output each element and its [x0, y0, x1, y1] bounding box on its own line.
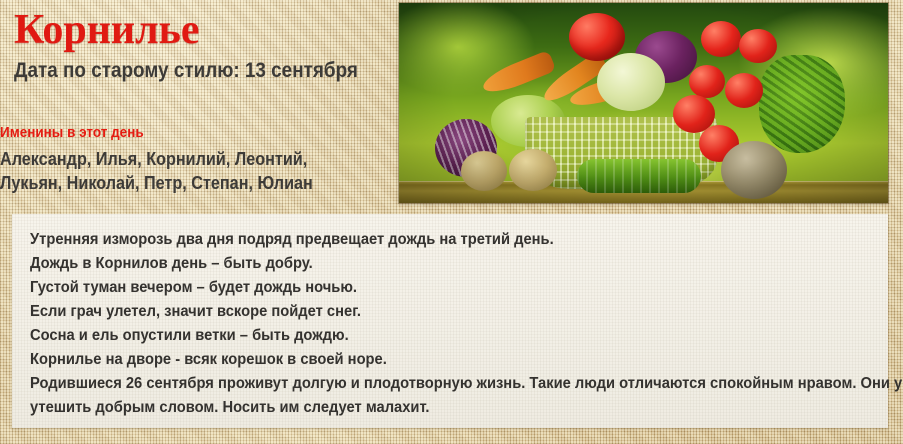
- list-item: утешить добрым словом. Носить им следует…: [30, 396, 805, 420]
- potato-icon: [509, 149, 557, 191]
- old-style-date: Дата по старому стилю: 13 сентября: [14, 58, 356, 84]
- list-item: Утренняя изморозь два дня подряд предвещ…: [30, 228, 805, 252]
- omens-panel: Утренняя изморозь два дня подряд предвещ…: [12, 214, 888, 428]
- list-item: Дождь в Корнилов день – быть добру.: [30, 252, 805, 276]
- list-item: Сосна и ель опустили ветки – быть дождю.: [30, 324, 805, 348]
- page-title: Корнильe: [14, 6, 394, 54]
- tomato-icon: [689, 65, 725, 98]
- white-cabbage-icon: [597, 53, 665, 111]
- list-item: Густой туман вечером – будет дождь ночью…: [30, 276, 805, 300]
- name-days-list: Александр, Илья, Корнилий, Леонтий, Лукь…: [0, 147, 378, 195]
- name-days-heading: Именины в этот день: [0, 124, 144, 142]
- list-item: Если грач улетел, значит вскоре пойдет с…: [30, 300, 805, 324]
- name-days-line: Лукьян, Николай, Петр, Степан, Юлиан: [0, 171, 378, 195]
- cucumber-icon: [577, 159, 701, 193]
- vegetables-photo: [399, 3, 888, 203]
- list-item: Корнилье на дворе - всяк корешок в своей…: [30, 348, 805, 372]
- holiday-card-page: Корнильe Дата по старому стилю: 13 сентя…: [0, 0, 903, 444]
- name-days-line: Александр, Илья, Корнилий, Леонтий,: [0, 147, 378, 171]
- parsley-icon: [759, 55, 845, 153]
- tomato-icon: [701, 21, 741, 57]
- omens-list: Утренняя изморозь два дня подряд предвещ…: [12, 228, 888, 420]
- tomato-icon: [569, 13, 625, 61]
- potato-icon: [461, 151, 507, 191]
- day-info-column: Корнильe Дата по старому стилю: 13 сентя…: [14, 6, 394, 84]
- beet-icon: [721, 141, 787, 199]
- tomato-icon: [725, 73, 763, 108]
- tomato-icon: [739, 29, 777, 63]
- list-item: Родившиеся 26 сентября проживут долгую и…: [30, 372, 805, 396]
